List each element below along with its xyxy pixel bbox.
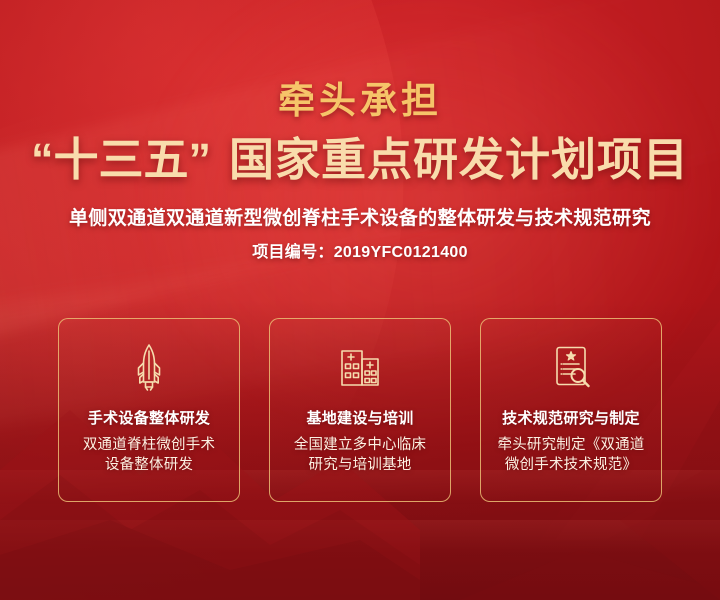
document-search-icon [545, 341, 597, 393]
card-title: 基地建设与培训 [306, 407, 413, 428]
project-subtitle: 单侧双通道双通道新型微创脊柱手术设备的整体研发与技术规范研究 [0, 207, 720, 232]
card-title: 技术规范研究与制定 [502, 407, 640, 428]
feature-card-list: 手术设备整体研发 双通道脊柱微创手术 设备整体研发 基地建设与培训 全国建立多中… [58, 318, 662, 502]
feature-card[interactable]: 基地建设与培训 全国建立多中心临床 研究与培训基地 [269, 318, 451, 502]
hospital-icon [334, 341, 386, 393]
headline-quoted-part: “十三五” [31, 134, 211, 185]
poster-header: 牵头承担 “十三五”国家重点研发计划项目 单侧双通道双通道新型微创脊柱手术设备的… [0, 0, 720, 264]
project-number: 项目编号：2019YFC0121400 [0, 243, 720, 264]
background-band-2 [0, 520, 720, 554]
page-title: “十三五”国家重点研发计划项目 [0, 136, 720, 185]
kicker-text: 牵头承担 [0, 82, 720, 119]
card-title: 手术设备整体研发 [88, 407, 210, 428]
card-description: 牵头研究制定《双通道 微创手术技术规范》 [490, 436, 653, 475]
poster-root: 牵头承担 “十三五”国家重点研发计划项目 单侧双通道双通道新型微创脊柱手术设备的… [0, 0, 720, 600]
rocket-icon [123, 341, 175, 393]
card-description: 全国建立多中心临床 研究与培训基地 [286, 436, 434, 475]
card-description: 双通道脊柱微创手术 设备整体研发 [75, 436, 223, 475]
headline-main-part: 国家重点研发计划项目 [229, 134, 689, 185]
feature-card[interactable]: 技术规范研究与制定 牵头研究制定《双通道 微创手术技术规范》 [480, 318, 662, 502]
feature-card[interactable]: 手术设备整体研发 双通道脊柱微创手术 设备整体研发 [58, 318, 240, 502]
